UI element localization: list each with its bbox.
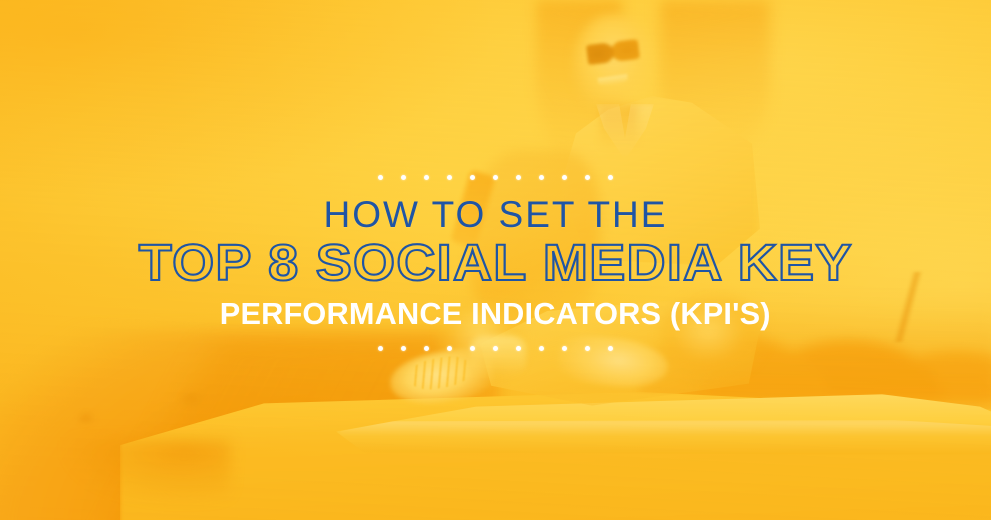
divider-dot <box>585 175 590 180</box>
divider-dot <box>608 175 613 180</box>
divider-dot <box>585 346 590 351</box>
headline-line-3: PERFORMANCE INDICATORS (KPI'S) <box>220 298 771 330</box>
divider-dot <box>539 346 544 351</box>
headline-line-1: HOW TO SET THE <box>324 196 668 234</box>
divider-dot <box>401 346 406 351</box>
headline-line-2-outlined: TOP 8 SOCIAL MEDIA KEY <box>139 237 853 289</box>
divider-dot <box>447 175 452 180</box>
divider-dot <box>562 346 567 351</box>
divider-dot <box>539 175 544 180</box>
divider-dot <box>424 346 429 351</box>
divider-dot <box>608 346 613 351</box>
divider-dot <box>470 346 475 351</box>
dotted-divider-bottom <box>378 343 613 353</box>
divider-dot <box>470 175 475 180</box>
divider-dot <box>378 175 383 180</box>
divider-dot <box>401 175 406 180</box>
dotted-divider-top <box>378 173 613 183</box>
divider-dot <box>378 346 383 351</box>
divider-dot <box>447 346 452 351</box>
divider-dot <box>562 175 567 180</box>
blog-header-banner: HOW TO SET THE TOP 8 SOCIAL MEDIA KEY PE… <box>0 0 991 520</box>
divider-dot <box>493 346 498 351</box>
headline-block: HOW TO SET THE TOP 8 SOCIAL MEDIA KEY PE… <box>0 0 991 520</box>
divider-dot <box>493 175 498 180</box>
divider-dot <box>516 175 521 180</box>
divider-dot <box>424 175 429 180</box>
divider-dot <box>516 346 521 351</box>
